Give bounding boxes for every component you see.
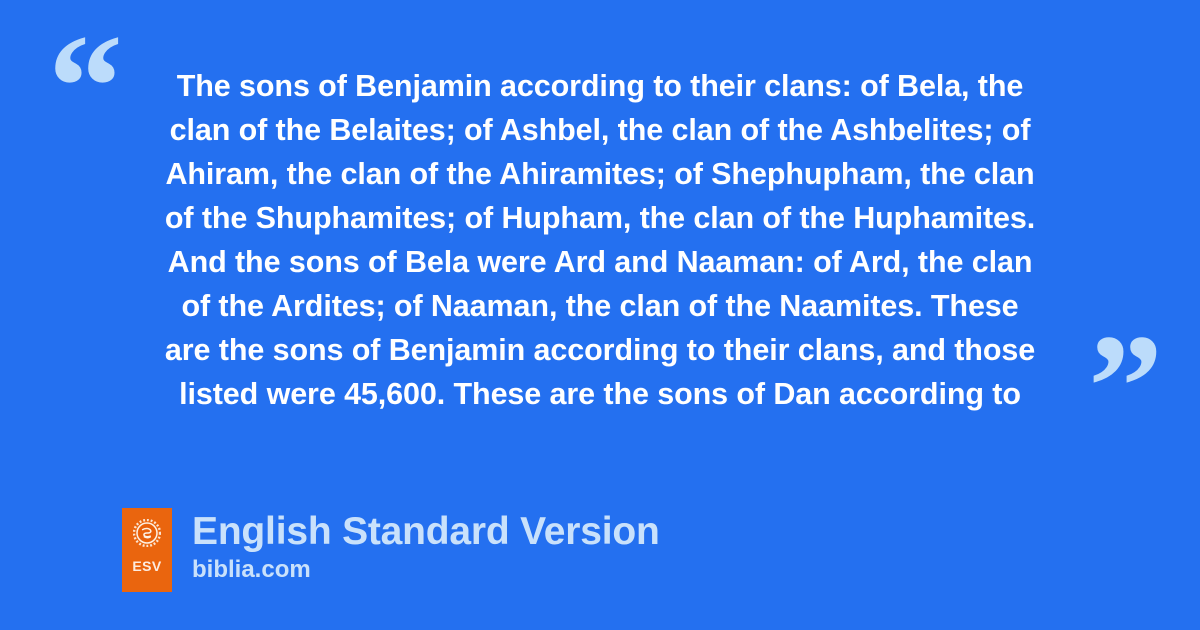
esv-logo-tile: ESV — [122, 508, 172, 592]
esv-seal-icon — [133, 519, 161, 547]
brand-text-group: English Standard Version biblia.com — [192, 508, 660, 585]
verse-line: And the sons of Bela were Ard and Naaman… — [110, 240, 1090, 284]
verse-line: Ahiram, the clan of the Ahiramites; of S… — [110, 152, 1090, 196]
verse-share-card: “ The sons of Benjamin according to thei… — [0, 0, 1200, 630]
closing-quotation-mark-icon: ” — [1088, 312, 1164, 462]
verse-line: clan of the Belaites; of Ashbel, the cla… — [110, 108, 1090, 152]
bible-version-title: English Standard Version — [192, 510, 660, 554]
verse-line: of the Ardites; of Naaman, the clan of t… — [110, 284, 1090, 328]
esv-abbreviation-label: ESV — [132, 559, 161, 573]
footer-branding: ESV English Standard Version biblia.com — [122, 508, 660, 592]
verse-line: listed were 45,600. These are the sons o… — [110, 372, 1090, 416]
verse-text-block: The sons of Benjamin according to their … — [110, 64, 1090, 416]
website-label: biblia.com — [192, 555, 660, 585]
verse-line: are the sons of Benjamin according to th… — [110, 328, 1090, 372]
verse-line: The sons of Benjamin according to their … — [110, 64, 1090, 108]
verse-line: of the Shuphamites; of Hupham, the clan … — [110, 196, 1090, 240]
